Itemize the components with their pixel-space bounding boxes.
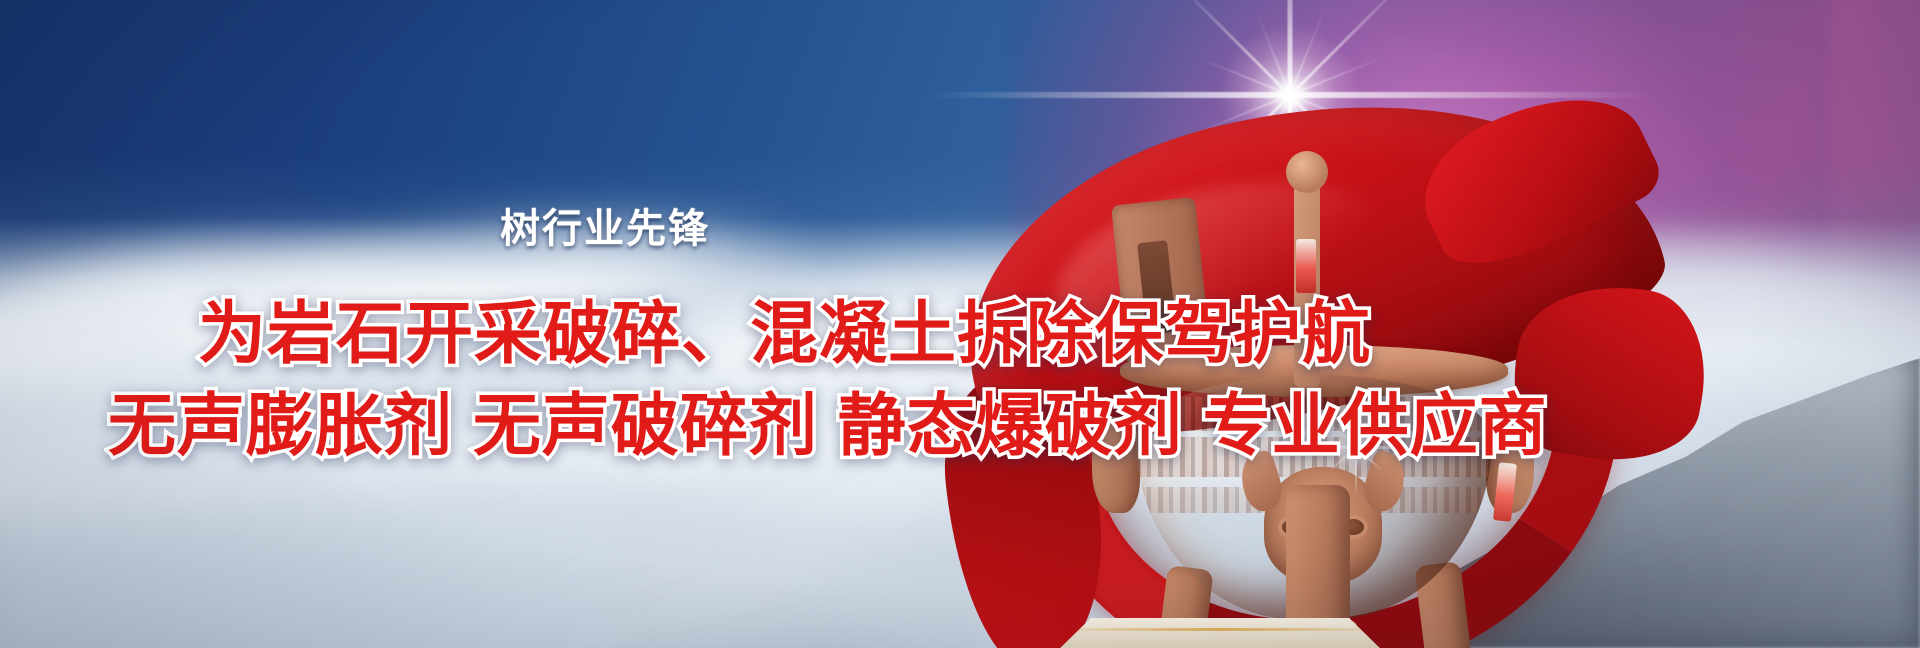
- promo-banner: 树行业先锋 为岩石开采破碎、混凝土拆除保驾护航 无声膨胀剂 无声破碎剂 静态爆破…: [0, 0, 1920, 648]
- edge-vignette: [0, 0, 1920, 648]
